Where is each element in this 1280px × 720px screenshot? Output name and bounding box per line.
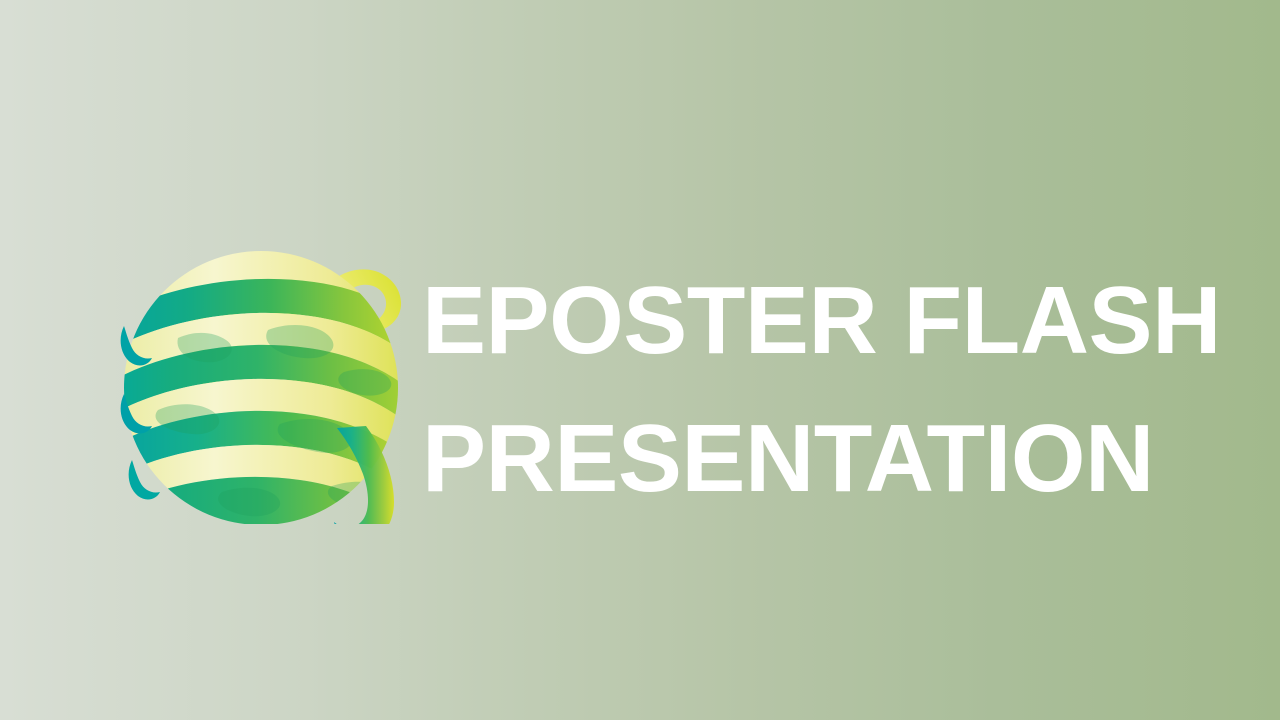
title-slide: EPOSTER FLASH PRESENTATION [0,0,1280,720]
slide-title: EPOSTER FLASH PRESENTATION [422,252,1202,528]
globe-ribbon-logo [118,198,410,524]
title-line-2: PRESENTATION [422,390,1202,528]
title-line-1: EPOSTER FLASH [422,252,1202,390]
